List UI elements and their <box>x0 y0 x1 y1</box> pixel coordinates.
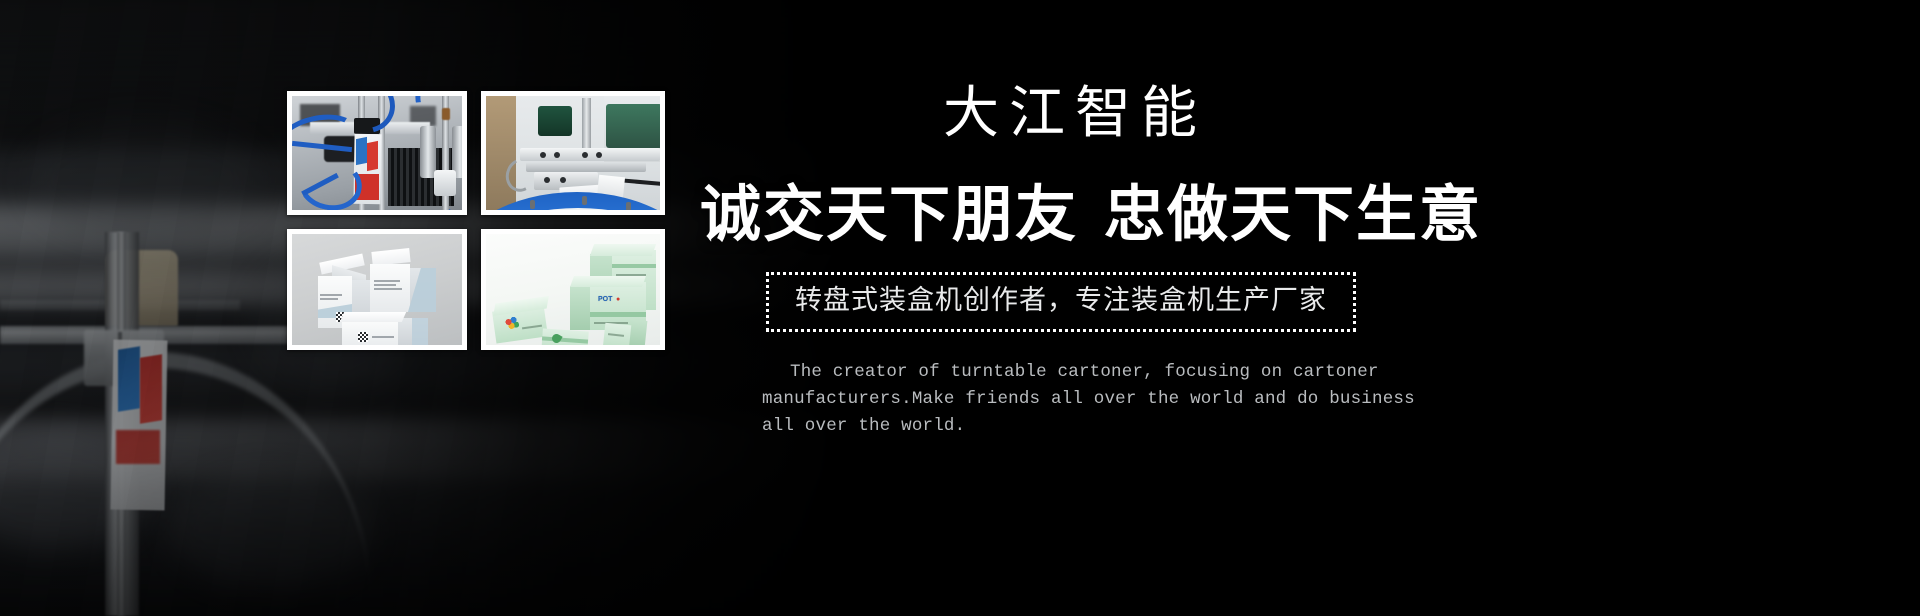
green-box-2-band <box>590 312 646 317</box>
gripper-bolt-4 <box>596 152 602 158</box>
gallery-item-green-medicine-boxes[interactable]: POT ● <box>481 229 665 350</box>
carton-3-text-line <box>372 336 394 338</box>
carton-3-top <box>340 312 406 322</box>
green-box-2-side <box>570 286 590 330</box>
machine-cylinder-1 <box>420 126 436 178</box>
photo-white-cartons-sample <box>292 234 462 345</box>
gripper-bolt-3 <box>582 152 588 158</box>
carton-1-text-line-1 <box>320 294 342 296</box>
slogan-part-2: 忠做天下生意 <box>1104 182 1482 249</box>
gripper-bolt-1 <box>540 152 546 158</box>
turntable-pin-2 <box>582 196 587 205</box>
carton-2-text-line-1 <box>374 280 400 282</box>
photo-cartoner-machine-detail <box>292 96 462 210</box>
english-line-1: The creator of turntable cartoner, focus… <box>790 362 1379 382</box>
gripper-bolt-5 <box>544 177 550 183</box>
gripper-vertical-post <box>582 98 591 154</box>
green-box-3-colorful-print <box>503 315 521 331</box>
tagline-dotted-box: 转盘式装盒机创作者，专注装盒机生产厂家 <box>766 272 1356 332</box>
photo-green-medicine-boxes: POT ● <box>486 234 660 345</box>
scene-green-panel-left <box>538 106 572 136</box>
photo-robot-gripper-turntable <box>486 96 660 210</box>
turntable-pin-3 <box>626 202 631 210</box>
main-slogan: 诚交天下朋友忠做天下生意 <box>700 183 1700 249</box>
gallery-item-robot-gripper-turntable[interactable] <box>481 91 665 215</box>
scene-green-panel-right <box>606 104 660 148</box>
hero-banner: POT ● 大江智能 诚交天下 <box>0 0 1920 616</box>
gripper-arm-lower <box>526 162 646 172</box>
marketing-copy-column: 大江智能 诚交天下朋友忠做天下生意 转盘式装盒机创作者，专注装盒机生产厂家 Th… <box>700 0 1920 616</box>
carton-2-text-line-2 <box>374 284 396 286</box>
scene-wood-frame-left <box>486 96 516 210</box>
green-box-2-brand-logo: POT <box>598 296 612 303</box>
carton-3-teal-graphic <box>412 318 428 345</box>
gripper-bolt-6 <box>560 177 566 183</box>
green-box-2-brand-accent: ● <box>616 296 620 303</box>
gallery-item-white-cartons-sample[interactable] <box>287 229 467 350</box>
product-photo-grid: POT ● <box>287 91 665 350</box>
green-box-1-top <box>590 244 656 256</box>
carton-1-text-line-2 <box>320 298 338 300</box>
english-description: The creator of turntable cartoner, focus… <box>762 359 1422 440</box>
english-line-3: all over the world. <box>762 416 965 436</box>
green-box-2-top <box>570 276 646 287</box>
tagline-text: 转盘式装盒机创作者，专注装盒机生产厂家 <box>795 284 1327 318</box>
turntable-pin-1 <box>530 200 535 209</box>
english-line-2: manufacturers.Make friends all over the … <box>762 389 1415 409</box>
slogan-part-1: 诚交天下朋友 <box>700 182 1078 249</box>
machine-label-red-stripe <box>367 141 378 171</box>
company-name-heading: 大江智能 <box>943 86 1207 142</box>
gripper-bolt-2 <box>554 152 560 158</box>
carton-3-front <box>342 320 398 345</box>
carton-2-text-line-3 <box>374 288 402 290</box>
green-box-1-band <box>612 264 656 268</box>
carton-3-qr-code <box>358 332 368 342</box>
gallery-item-cartoner-machine-detail[interactable] <box>287 91 467 215</box>
